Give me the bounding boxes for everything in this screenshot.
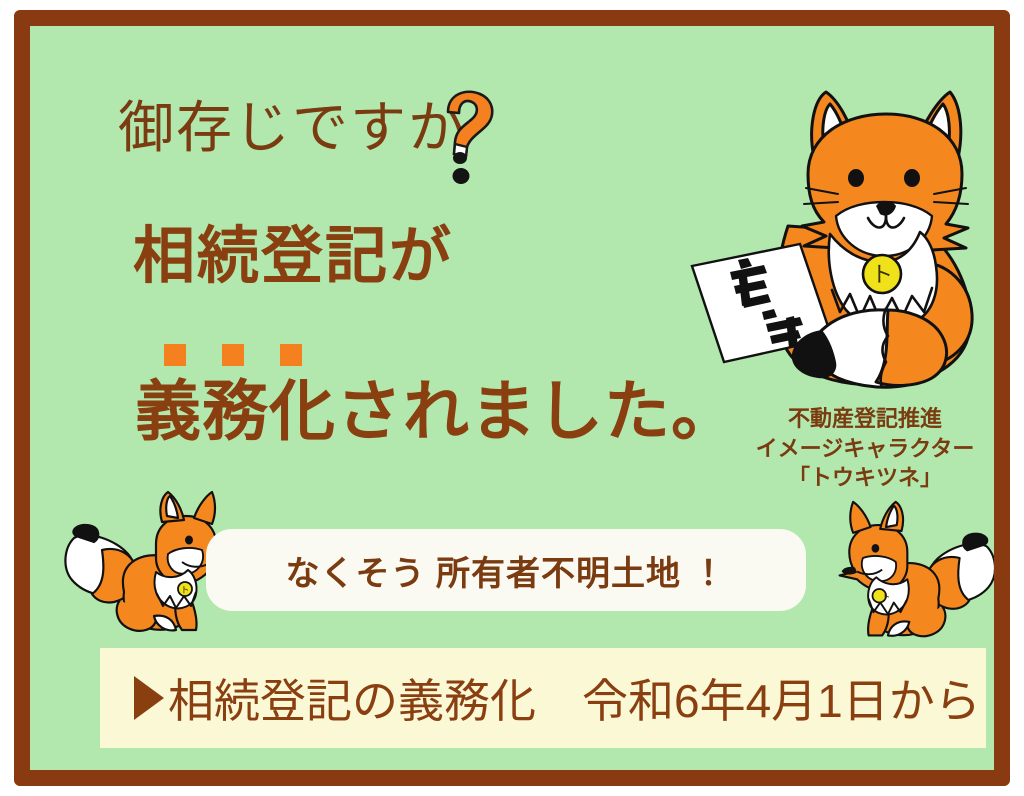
badge-label: ト xyxy=(882,592,891,602)
emphasis-dot xyxy=(280,344,302,366)
badge-label: ト xyxy=(871,262,893,287)
triangle-right-icon xyxy=(134,676,164,720)
poster-canvas: 御存じですか 相続登記が 義務化されました。 xyxy=(30,26,994,770)
slogan-text: なくそう 所有者不明土地 ！ xyxy=(286,546,727,595)
poster-frame: 御存じですか 相続登記が 義務化されました。 xyxy=(14,10,1010,786)
character-caption-line-1: 不動産登記推進 xyxy=(720,404,1010,434)
character-caption: 不動産登記推進 イメージキャラクター 「トウキツネ」 xyxy=(720,404,1010,493)
headline-line-3: 義務化されました。 xyxy=(135,378,738,444)
bottom-info-bar: 相続登記の義務化 令和6年4月1日から xyxy=(100,648,986,748)
emphasis-dots xyxy=(164,344,302,366)
emphasis-dot xyxy=(164,344,186,366)
fox-small-right-illustration: ト xyxy=(830,498,1005,648)
slogan-banner: なくそう 所有者不明土地 ！ xyxy=(206,529,806,611)
bottom-info-text: 相続登記の義務化 令和6年4月1日から xyxy=(168,665,981,731)
emphasis-dot xyxy=(222,344,244,366)
badge-label: ト xyxy=(180,585,189,595)
fox-mascot-writing-illustration: ト xyxy=(680,66,1010,406)
headline-line-1: 御存じですか xyxy=(118,100,466,156)
character-caption-line-3: 「トウキツネ」 xyxy=(720,463,1010,493)
character-caption-line-2: イメージキャラクター xyxy=(720,434,1010,464)
headline-line-2: 相続登記が xyxy=(133,226,453,288)
fox-tail-question-mark-icon xyxy=(434,84,504,194)
